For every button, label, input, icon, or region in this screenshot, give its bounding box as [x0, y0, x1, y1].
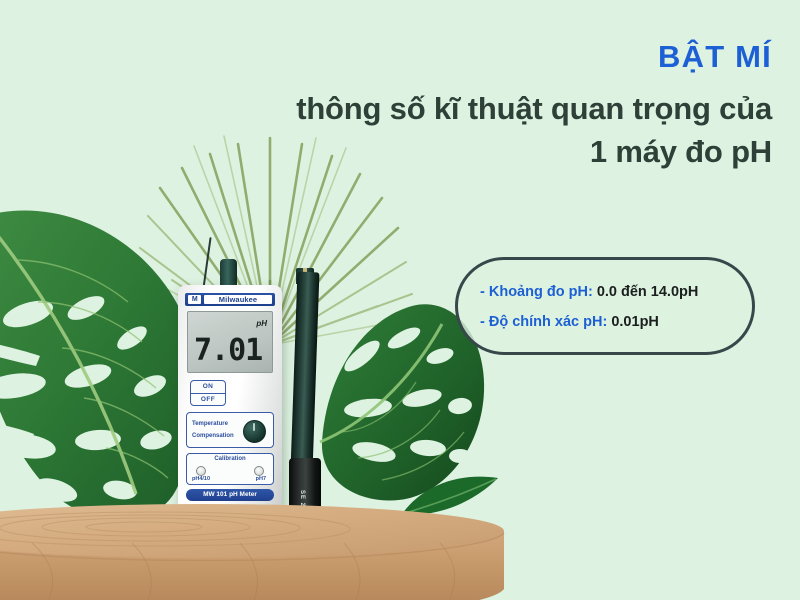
spec-range-key: Khoảng đo pH: [489, 284, 593, 300]
page-title: thông số kĩ thuật quan trọng của 1 máy đ… [172, 88, 772, 174]
temperature-label-line1: Temperature [192, 418, 244, 430]
wooden-pedestal [0, 503, 506, 600]
temperature-compensation-label: Temperature Compensation [192, 418, 244, 442]
calibration-label-ph4-10: pH4/10 [192, 476, 210, 482]
power-switch[interactable]: ON OFF [190, 380, 226, 406]
calibration-panel: Calibration pH4/10 pH7 [186, 453, 274, 485]
eyebrow-label: BẬT MÍ [172, 40, 772, 74]
spec-range-value: 0.0 đến 14.0pH [597, 284, 699, 300]
spec-accuracy-key: Độ chính xác pH: [489, 314, 607, 330]
calibration-title-label: Calibration [187, 456, 273, 462]
brand-bar: M Milwaukee [185, 293, 275, 306]
lcd-reading-value: 7.01 [194, 336, 262, 366]
spec-accuracy-bullet: - [480, 314, 485, 330]
spec-range-bullet: - [480, 284, 485, 300]
power-off-label[interactable]: OFF [191, 393, 225, 406]
brand-name-label: Milwaukee [204, 295, 272, 305]
meter-cap-icon [220, 259, 237, 287]
meter-body: M Milwaukee pH 7.01 ON OFF Temperature C… [178, 285, 282, 513]
temperature-label-line2: Compensation [192, 430, 244, 442]
promo-banner: M Milwaukee pH 7.01 ON OFF Temperature C… [0, 0, 800, 600]
headline-block: BẬT MÍ thông số kĩ thuật quan trọng của … [172, 40, 772, 174]
headline-line-1: thông số kĩ thuật quan trọng của [296, 91, 772, 126]
spec-item-accuracy: - Độ chính xác pH: 0.01pH [480, 307, 752, 337]
power-on-label[interactable]: ON [191, 381, 225, 393]
ph-electrode-probe: SE 220 [286, 272, 326, 522]
ph-meter-device: M Milwaukee pH 7.01 ON OFF Temperature C… [178, 285, 282, 513]
calibration-screw-ph4-10[interactable] [196, 466, 206, 476]
spec-callout-box: - Khoảng đo pH: 0.0 đến 14.0pH - Độ chín… [455, 257, 755, 355]
lcd-unit-label: pH [256, 319, 267, 328]
probe-shaft [291, 272, 320, 471]
spec-item-range: - Khoảng đo pH: 0.0 đến 14.0pH [480, 277, 752, 307]
lcd-display: pH 7.01 [187, 311, 273, 373]
model-name-label: MW 101 pH Meter [186, 489, 274, 501]
brand-mark-logo: M [188, 295, 201, 304]
calibration-label-ph7: pH7 [256, 476, 266, 482]
calibration-screw-ph7[interactable] [254, 466, 264, 476]
headline-line-2: 1 máy đo pH [590, 134, 772, 169]
spec-accuracy-value: 0.01pH [611, 314, 659, 330]
meter-antenna [202, 237, 211, 289]
temperature-knob[interactable] [243, 420, 266, 443]
temperature-compensation-panel: Temperature Compensation [186, 412, 274, 448]
